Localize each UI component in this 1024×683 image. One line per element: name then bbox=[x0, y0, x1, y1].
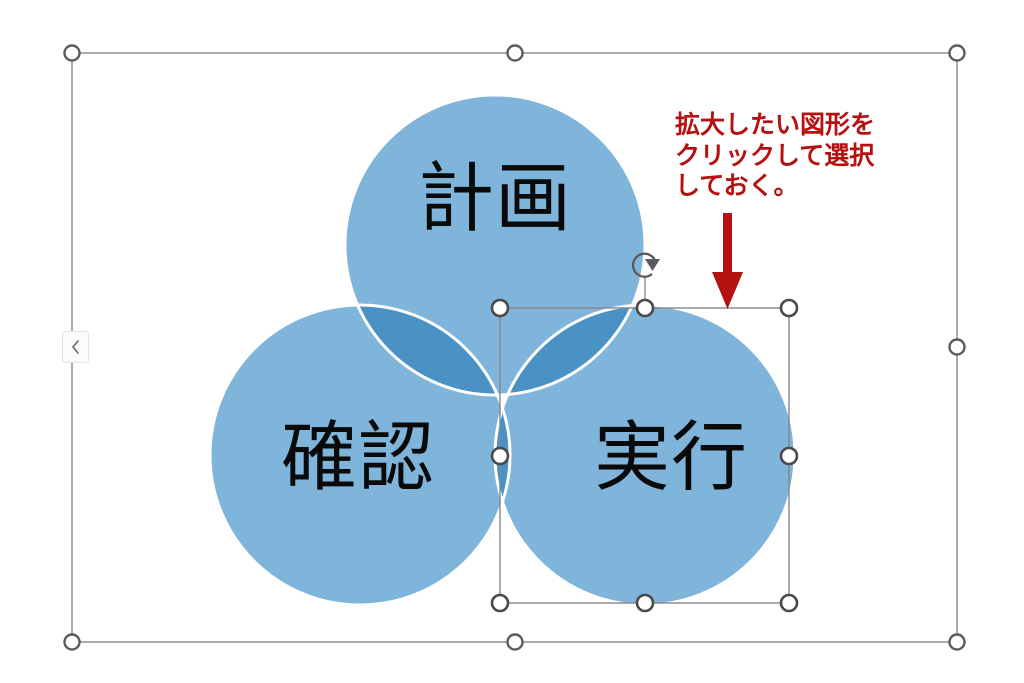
circle-label-confirm: 確認 bbox=[281, 413, 435, 502]
annotation-text: 拡大したい図形を クリックして選択 しておく。 bbox=[675, 110, 875, 202]
outer-handle-bottom-left[interactable] bbox=[65, 635, 80, 650]
circle-label-plan: 計画 bbox=[418, 154, 572, 243]
slide-canvas: 計画 確認 実行 bbox=[0, 0, 1024, 683]
annotation-arrow-icon bbox=[712, 213, 743, 309]
annotation-line-2: クリックして選択 bbox=[675, 141, 875, 172]
outer-handle-top-left[interactable] bbox=[65, 46, 80, 61]
outer-handle-bottom-center[interactable] bbox=[508, 635, 523, 650]
annotation-line-1: 拡大したい図形を bbox=[675, 110, 875, 141]
annotation-line-3: しておく。 bbox=[675, 171, 875, 202]
inner-handle-middle-right[interactable] bbox=[781, 448, 797, 464]
inner-handle-bottom-right[interactable] bbox=[781, 595, 797, 611]
inner-handle-top-right[interactable] bbox=[781, 300, 797, 316]
inner-handle-bottom-center[interactable] bbox=[637, 595, 653, 611]
inner-handle-bottom-left[interactable] bbox=[492, 595, 508, 611]
chevron-left-icon bbox=[70, 339, 81, 355]
inner-handle-top-center[interactable] bbox=[637, 300, 653, 316]
rotate-icon-arrowhead bbox=[645, 259, 660, 271]
venn-diagram: 計画 確認 実行 bbox=[0, 0, 1024, 683]
inner-handle-middle-left[interactable] bbox=[492, 448, 508, 464]
inner-handle-top-left[interactable] bbox=[492, 300, 508, 316]
outer-handle-middle-right[interactable] bbox=[950, 340, 965, 355]
circle-label-execute: 実行 bbox=[594, 413, 748, 502]
outer-handle-top-center[interactable] bbox=[508, 46, 523, 61]
expand-text-pane-button[interactable] bbox=[62, 331, 89, 363]
outer-handle-top-right[interactable] bbox=[950, 46, 965, 61]
outer-handle-bottom-right[interactable] bbox=[950, 635, 965, 650]
